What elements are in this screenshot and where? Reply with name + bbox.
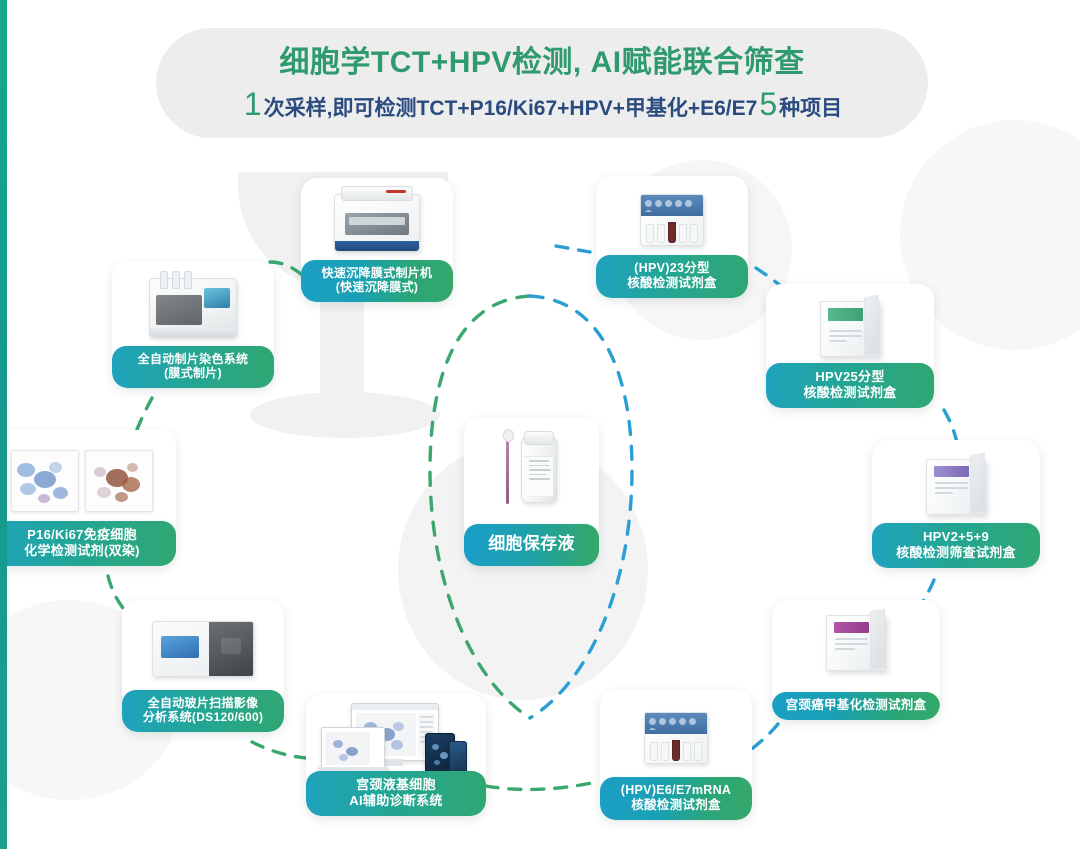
slide-scanner-device-illustration xyxy=(152,621,254,677)
e6-e7-mrna-kit-illustration xyxy=(644,712,708,764)
caption-line-2: 分析系统(DS120/600) xyxy=(126,710,280,725)
node-ai-diagnosis-card[interactable]: 宫颈液基细胞 AI辅助诊断系统 xyxy=(306,694,486,816)
node-e6-e7-mrna-caption: (HPV)E6/E7mRNA 核酸检测试剂盒 xyxy=(600,777,752,821)
caption-line-2: 核酸检测试剂盒 xyxy=(604,798,748,813)
link-ai-to-e6e7 xyxy=(486,782,596,789)
subtitle-text-first: 次采样,即可检测TCT+P16/Ki67+HPV+甲基化+E6/E7 xyxy=(264,98,758,119)
hpv23-kit-illustration xyxy=(640,194,704,246)
node-methylation-caption: 宫颈癌甲基化检测试剂盒 xyxy=(772,692,940,720)
node-auto-stainer-caption: 全自动制片染色系统 (膜式制片) xyxy=(112,346,274,388)
node-ai-diagnosis-caption: 宫颈液基细胞 AI辅助诊断系统 xyxy=(306,771,486,816)
link-scanner-to-ai xyxy=(252,742,306,758)
caption-line-2: (快速沉降膜式) xyxy=(305,280,449,295)
center-node-caption: 细胞保存液 xyxy=(464,524,599,566)
caption-line-1: HPV2+5+9 xyxy=(923,529,989,544)
ai-diagnosis-devices-illustration xyxy=(321,703,471,773)
node-hpv25-caption: HPV25分型 核酸检测试剂盒 xyxy=(766,363,934,408)
node-hpv23-card[interactable]: (HPV)23分型 核酸检测试剂盒 xyxy=(596,176,748,298)
caption-line-1: 全自动制片染色系统 xyxy=(138,352,249,366)
node-e6-e7-mrna-card[interactable]: (HPV)E6/E7mRNA 核酸检测试剂盒 xyxy=(600,690,752,820)
preservation-vial-icon xyxy=(521,437,557,503)
page-subtitle: 1 次采样,即可检测TCT+P16/Ki67+HPV+甲基化+E6/E7 5 种… xyxy=(242,88,842,120)
node-auto-stainer-card[interactable]: 全自动制片染色系统 (膜式制片) xyxy=(112,262,274,388)
infographic-canvas: 细胞学TCT+HPV检测, AI赋能联合筛查 1 次采样,即可检测TCT+P16… xyxy=(0,0,1080,849)
watermark-foot-shape xyxy=(250,392,440,438)
collection-swab-icon xyxy=(506,436,509,504)
subtitle-number-five: 5 xyxy=(757,88,779,120)
auto-stainer-device-illustration xyxy=(149,278,237,338)
page-title: 细胞学TCT+HPV检测, AI赋能联合筛查 xyxy=(279,46,804,81)
hpv-2-5-9-kit-illustration xyxy=(926,459,986,515)
node-rapid-sedimentation-caption: 快速沉降膜式制片机 (快速沉降膜式) xyxy=(301,260,453,302)
subtitle-number-one: 1 xyxy=(242,88,264,120)
caption-line-1: 全自动玻片扫描影像 xyxy=(148,696,259,710)
methylation-kit-illustration xyxy=(826,615,886,671)
caption-line-1: HPV25分型 xyxy=(815,369,884,384)
link-rapid-to-hpv23 xyxy=(556,246,590,252)
node-p16-ki67-caption: P16/Ki67免疫细胞 化学检测试剂(双染) xyxy=(0,521,176,566)
hpv25-kit-illustration xyxy=(820,301,880,357)
subtitle-text-second: 种项目 xyxy=(779,98,842,119)
caption-line-2: 核酸检测试剂盒 xyxy=(770,385,930,401)
caption-line-1: P16/Ki67免疫细胞 xyxy=(27,527,137,542)
caption-line-2: AI辅助诊断系统 xyxy=(310,793,482,809)
caption-line-1: (HPV)23分型 xyxy=(634,261,710,275)
preservation-fluid-illustration xyxy=(506,436,557,504)
node-hpv25-card[interactable]: HPV25分型 核酸检测试剂盒 xyxy=(766,284,934,408)
center-node-card[interactable]: 细胞保存液 xyxy=(464,418,599,566)
left-edge-accent-stripe xyxy=(0,0,7,849)
slide-blue-stain xyxy=(11,450,79,512)
node-hpv23-caption: (HPV)23分型 核酸检测试剂盒 xyxy=(596,255,748,299)
rapid-sedimentation-device-illustration xyxy=(334,194,420,252)
center-node-label: 细胞保存液 xyxy=(488,534,575,553)
node-methylation-card[interactable]: 宫颈癌甲基化检测试剂盒 xyxy=(772,600,940,720)
node-p16-ki67-card[interactable]: P16/Ki67免疫细胞 化学检测试剂(双染) xyxy=(0,430,176,566)
link-methylation-to-e6e7 xyxy=(748,724,778,752)
caption-line-2: (膜式制片) xyxy=(116,366,270,381)
caption-line-1: 快速沉降膜式制片机 xyxy=(322,266,433,280)
caption-line-1: 宫颈液基细胞 xyxy=(356,777,436,792)
node-hpv2-5-9-card[interactable]: HPV2+5+9 核酸检测筛查试剂盒 xyxy=(872,440,1040,568)
node-slide-scanner-caption: 全自动玻片扫描影像 分析系统(DS120/600) xyxy=(122,690,284,732)
caption-line-2: 核酸检测筛查试剂盒 xyxy=(876,545,1036,561)
slide-brown-stain xyxy=(85,450,153,512)
node-slide-scanner-card[interactable]: 全自动玻片扫描影像 分析系统(DS120/600) xyxy=(122,600,284,732)
caption-line-2: 核酸检测试剂盒 xyxy=(600,276,744,291)
caption-line-2: 化学检测试剂(双染) xyxy=(0,543,172,559)
caption-line-1: 宫颈癌甲基化检测试剂盒 xyxy=(786,698,927,712)
p16-ki67-slide-images xyxy=(11,450,153,512)
header-banner: 细胞学TCT+HPV检测, AI赋能联合筛查 1 次采样,即可检测TCT+P16… xyxy=(156,28,928,138)
caption-line-1: (HPV)E6/E7mRNA xyxy=(621,783,731,797)
node-hpv2-5-9-caption: HPV2+5+9 核酸检测筛查试剂盒 xyxy=(872,523,1040,568)
node-rapid-sedimentation-card[interactable]: 快速沉降膜式制片机 (快速沉降膜式) xyxy=(301,178,453,302)
